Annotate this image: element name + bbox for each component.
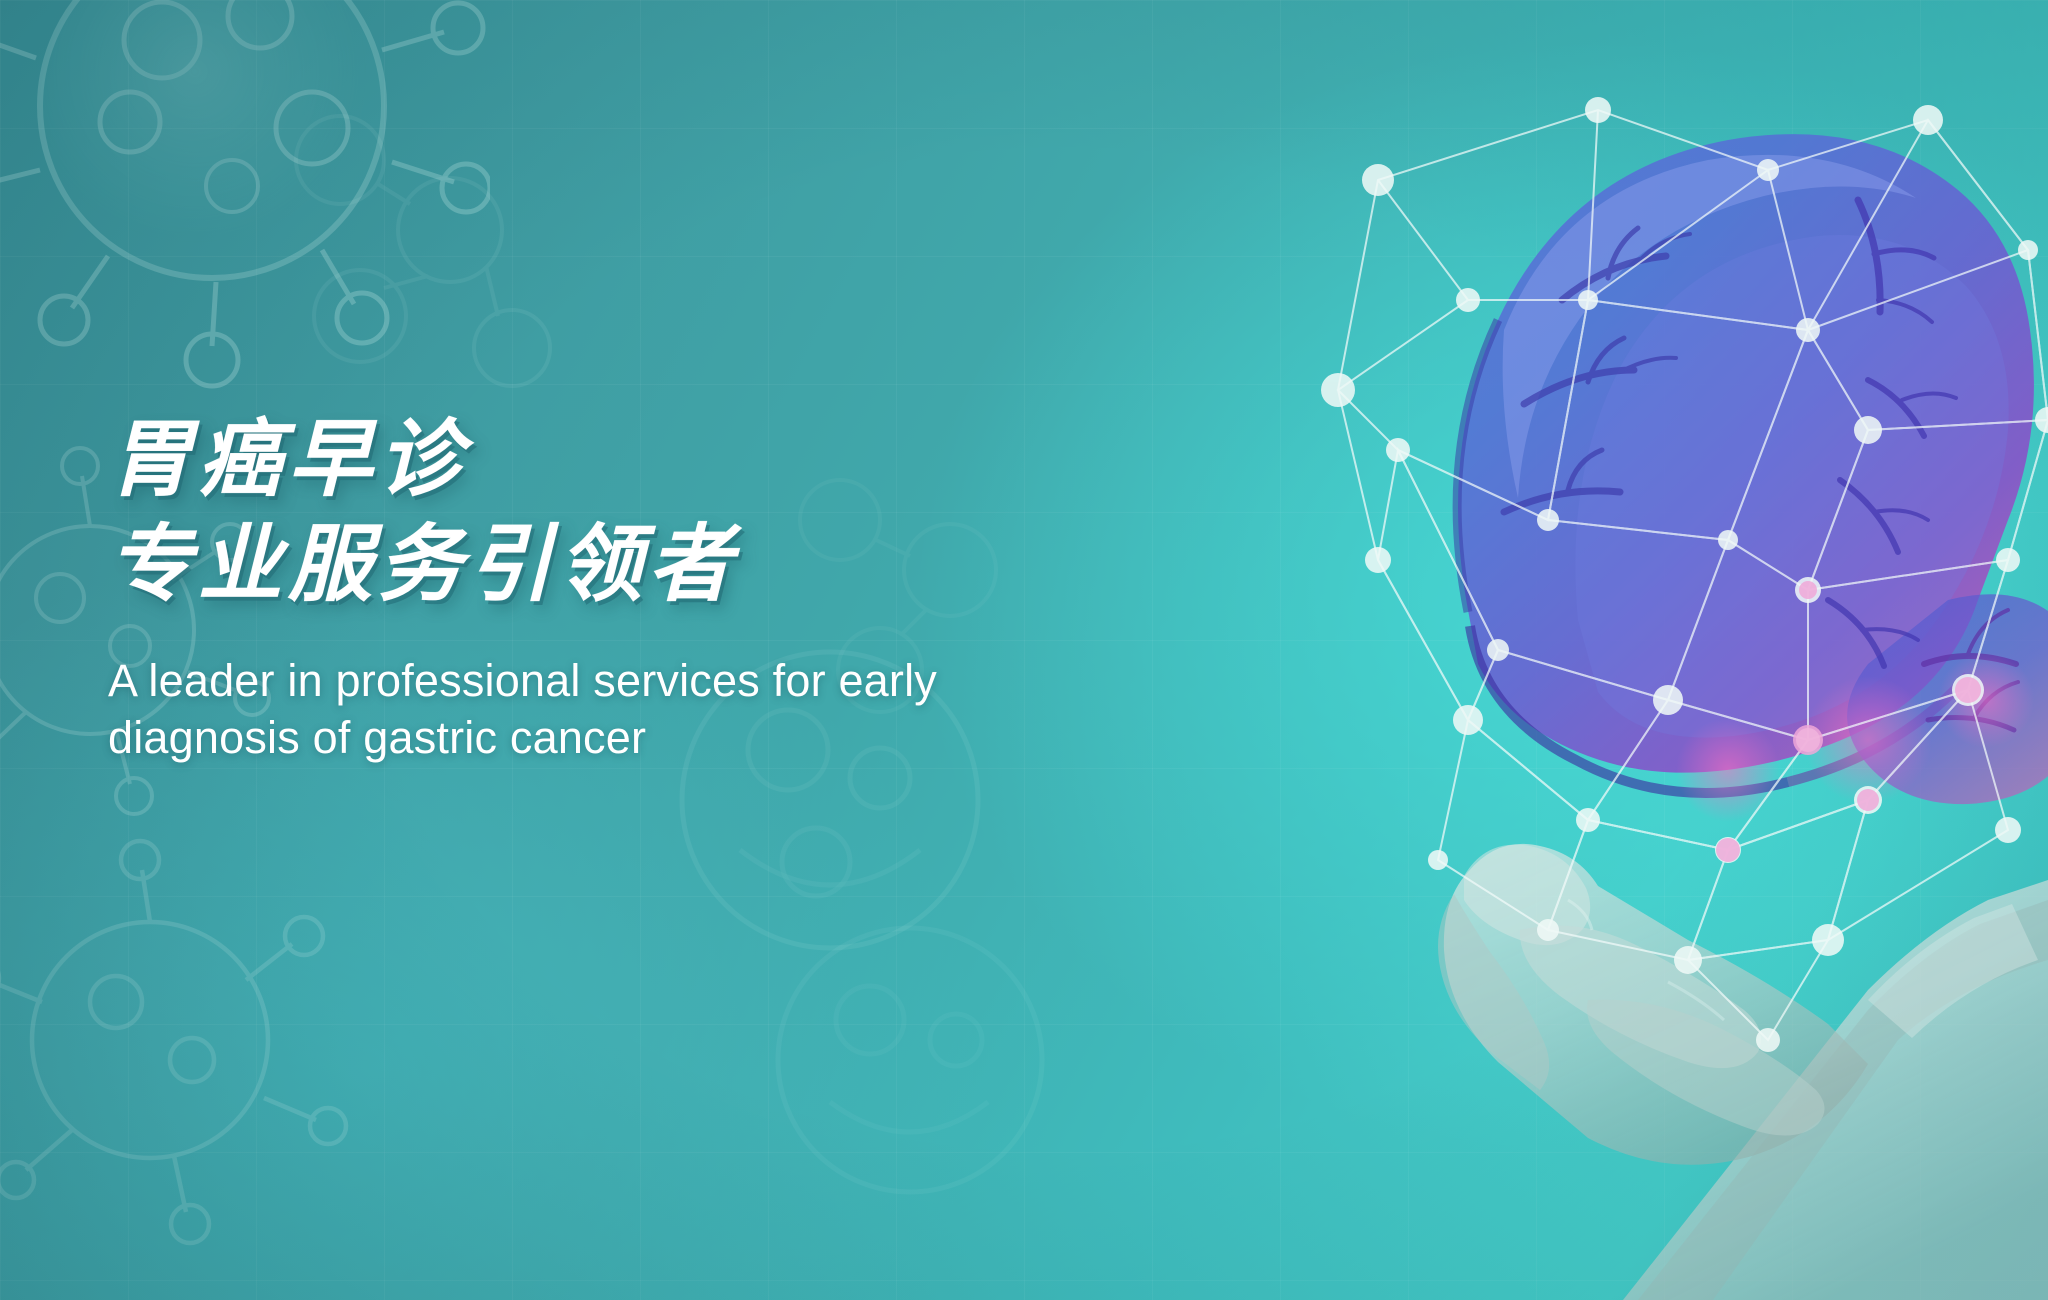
subtitle-line-1: A leader in professional services for ea… [108,653,1108,710]
molecule-icon [250,80,670,440]
headline-line-1: 胃癌早诊 [108,414,1108,505]
stomach-in-hand-illustration [1168,0,2048,1300]
open-palm-hand [1438,844,2048,1300]
stomach-illustration-svg [1168,0,2048,1300]
virus-icon [0,830,380,1270]
hero-text-block: 胃癌早诊 专业服务引领者 A leader in professional se… [108,414,1108,767]
subtitle-line-2: diagnosis of gastric cancer [108,710,1108,767]
medical-hero-banner: 胃癌早诊 专业服务引领者 A leader in professional se… [0,0,2048,1300]
subtitle-block: A leader in professional services for ea… [108,653,1108,766]
virus-icon [0,0,490,410]
cell-icon [720,880,1100,1240]
headline-line-2: 专业服务引领者 [108,519,1108,610]
